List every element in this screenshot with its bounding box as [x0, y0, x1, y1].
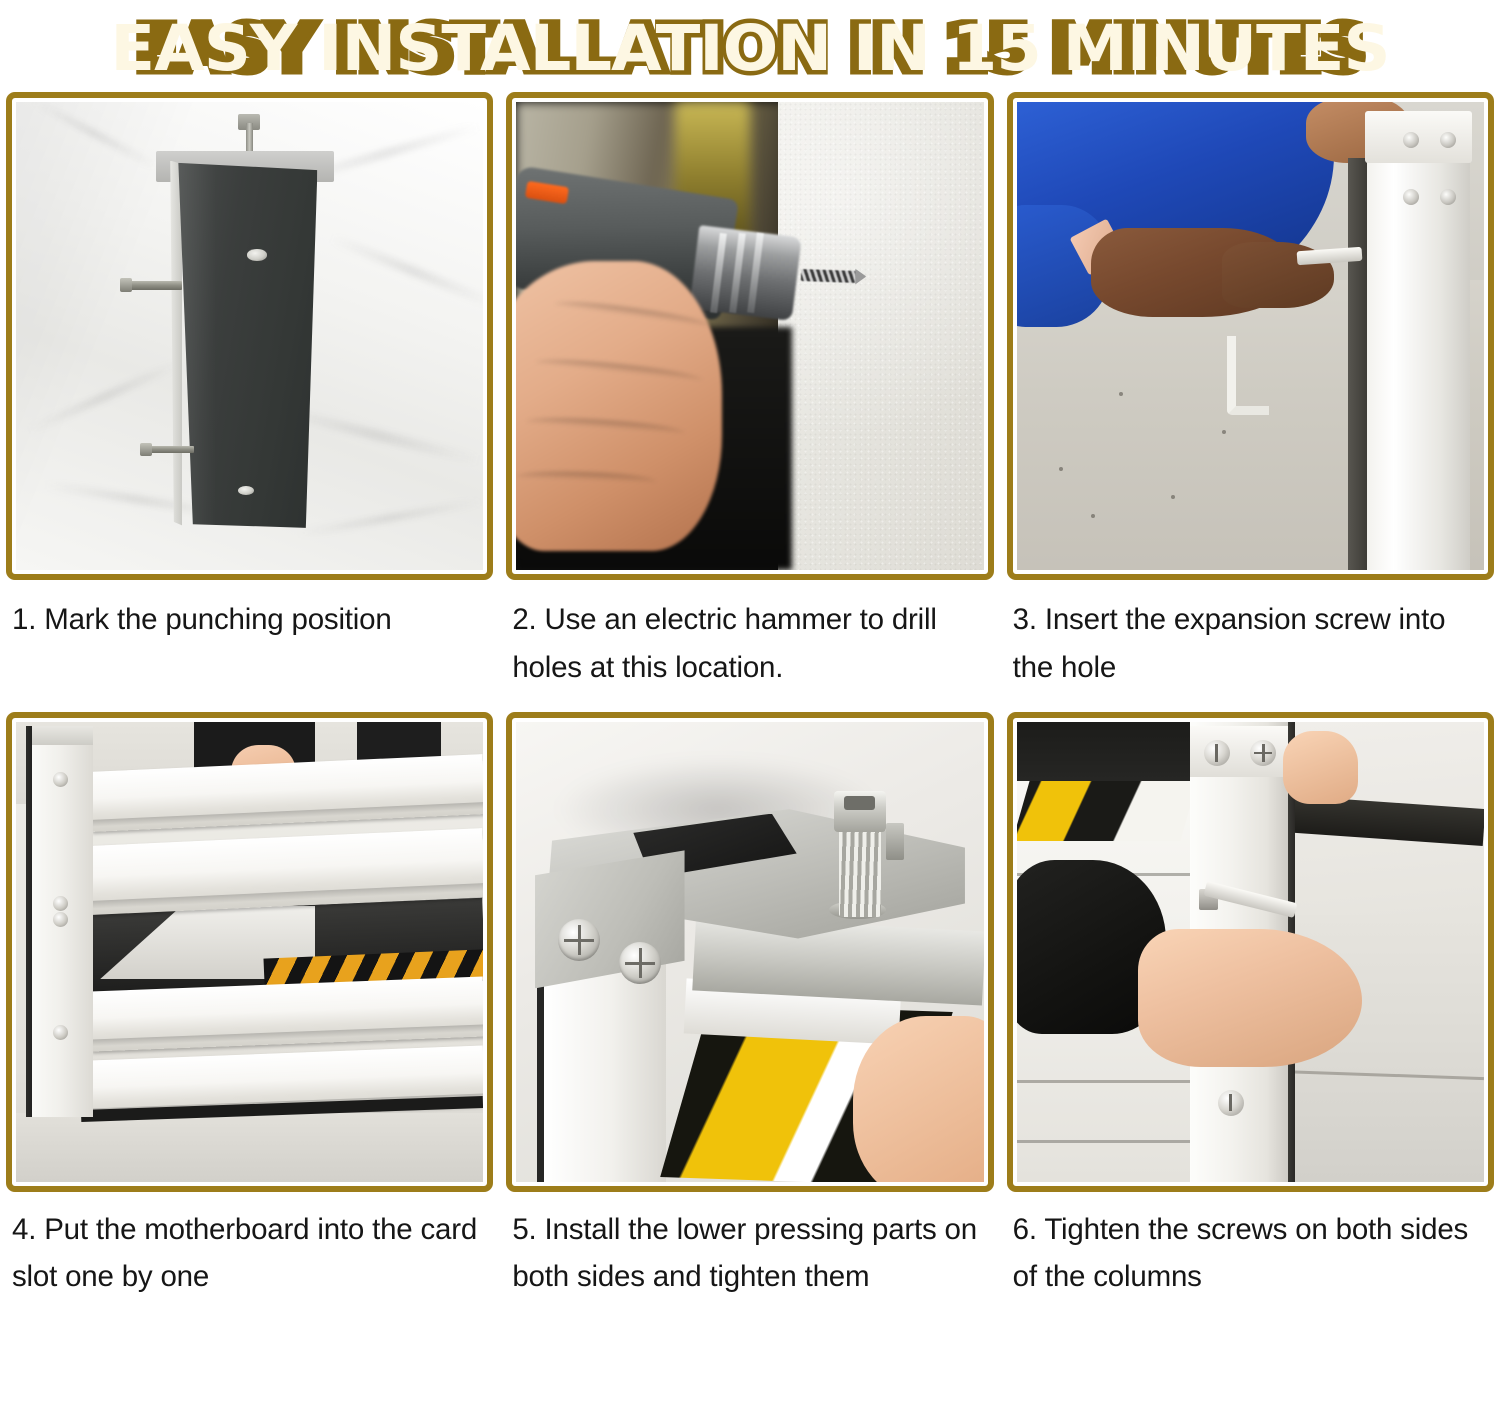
step-photo-frame-4: [6, 712, 493, 1192]
column-dark-edge: [1348, 158, 1368, 570]
step-card-5: 5. Install the lower pressing parts on b…: [506, 712, 993, 1302]
column-screw: [1204, 740, 1230, 766]
step-caption-3: 3. Insert the expansion screw into the h…: [1007, 596, 1494, 692]
step-card-2: 2. Use an electric hammer to drill holes…: [506, 92, 993, 692]
step-photo-1: [16, 102, 483, 570]
step-photo-5: [516, 722, 983, 1182]
infographic-page: EASY INSTALLATION IN 15 MINUTES EASY INS…: [0, 0, 1500, 1403]
marking-pin-cap: [120, 278, 132, 293]
step-photo-frame-5: [506, 712, 993, 1192]
bolt-nub: [886, 823, 905, 860]
white-wall: [778, 102, 984, 570]
step-photo-frame-2: [506, 92, 993, 580]
column-cap: [32, 726, 93, 744]
barrier-seam: [1017, 1080, 1204, 1083]
step-caption-1: 1. Mark the punching position: [6, 596, 493, 644]
barrier-top-band: [1017, 722, 1204, 782]
step-caption-6: 6. Tighten the screws on both sides of t…: [1007, 1206, 1494, 1302]
cloth-wrinkle: [32, 102, 160, 171]
post-hole: [247, 249, 267, 260]
step-caption-4: 4. Put the motherboard into the card slo…: [6, 1206, 493, 1302]
step-photo-3: [1017, 102, 1484, 570]
cloth-wrinkle: [329, 233, 483, 309]
post-hole: [238, 486, 254, 495]
second-hand: [1283, 731, 1358, 805]
steps-grid: 1. Mark the punching position: [0, 92, 1500, 1301]
title-wrap: EASY INSTALLATION IN 15 MINUTES EASY INS…: [135, 17, 1365, 80]
floor: [16, 1113, 483, 1182]
bolt-head: [834, 791, 885, 832]
floor-speck: [1059, 467, 1063, 471]
step-photo-frame-1: [6, 92, 493, 580]
step-card-6: 6. Tighten the screws on both sides of t…: [1007, 712, 1494, 1302]
column-screw: [1440, 189, 1456, 205]
marking-pin-cap: [140, 443, 151, 456]
barrier-seam: [1017, 1140, 1204, 1143]
step-card-1: 1. Mark the punching position: [6, 92, 493, 692]
post-highlight: [173, 163, 318, 528]
step-caption-2: 2. Use an electric hammer to drill holes…: [506, 596, 993, 692]
step-photo-2: [516, 102, 983, 570]
hand: [1138, 929, 1362, 1067]
step-photo-4: [16, 722, 483, 1182]
step-photo-6: [1017, 722, 1484, 1182]
column-screw: [1218, 1090, 1244, 1116]
step-card-3: 3. Insert the expansion screw into the h…: [1007, 92, 1494, 692]
step-photo-frame-6: [1007, 712, 1494, 1192]
bolt-thread: [839, 825, 881, 917]
column-screw: [1403, 132, 1419, 148]
column-top-bracket: [1365, 111, 1472, 162]
page-title: EASY INSTALLATION IN 15 MINUTES: [135, 12, 1365, 85]
cloth-wrinkle: [297, 498, 482, 538]
floor-speck: [1171, 495, 1175, 499]
floor-speck: [1222, 430, 1226, 434]
hazard-stripe: [1017, 781, 1198, 841]
step-photo-frame-3: [1007, 92, 1494, 580]
hand: [516, 261, 722, 551]
title-banner: EASY INSTALLATION IN 15 MINUTES EASY INS…: [0, 0, 1500, 92]
cloth-wrinkle: [26, 358, 183, 435]
column-screw: [1403, 189, 1419, 205]
white-column: [544, 961, 666, 1182]
step-card-4: 4. Put the motherboard into the card slo…: [6, 712, 493, 1302]
step-caption-5: 5. Install the lower pressing parts on b…: [506, 1206, 993, 1302]
allen-key: [1227, 336, 1269, 415]
